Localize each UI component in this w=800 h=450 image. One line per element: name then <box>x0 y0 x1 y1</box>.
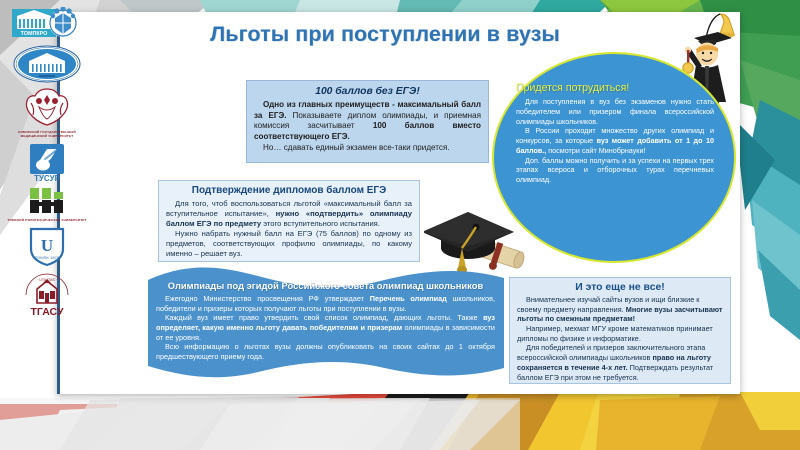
confirm-p2: Нужно набрать нужный балл на ЕГЭ (75 бал… <box>166 229 412 259</box>
tusur-logo: ТУСУР <box>10 143 84 183</box>
box-and-thats-not-all-title: И это еще не все! <box>517 282 723 294</box>
svg-text:ТГАСУ: ТГАСУ <box>30 306 63 317</box>
tspu-logo <box>10 45 84 83</box>
box-100-points: 100 баллов без ЕГЭ! Одно из главных преи… <box>246 80 489 163</box>
tompkro-logo: ТОМПКРО <box>10 7 84 41</box>
tgasu-logo: · UTILITAS · ТГАСУ <box>10 271 84 317</box>
page-title: Льготы при поступлении в вузы <box>150 22 620 47</box>
svg-text:U: U <box>41 236 53 255</box>
svg-text:ТУСУР: ТУСУР <box>34 174 61 183</box>
circle-p2c: посмотри сайт Минобрнауки! <box>546 146 645 155</box>
confirm-p1c: этого вступительного испытания. <box>261 219 380 228</box>
svg-text:TOMSK 1878: TOMSK 1878 <box>35 255 60 260</box>
box-rsosh-title: Олимпиады под эгидой Российского совета … <box>156 281 495 292</box>
ssmu-caption: СИБИРСКИЙ ГОСУДАРСТВЕННЫЙ МЕДИЦИНСКИЙ УН… <box>5 131 89 139</box>
box-diploma-confirmation: Подтверждение дипломов баллом ЕГЭ Для то… <box>158 180 420 262</box>
tpu-logo <box>10 187 84 215</box>
university-logo-strip: ТОМПКРО <box>5 4 89 378</box>
rsosh-p1b: Перечень олимпиад <box>370 294 447 303</box>
ssmu-logo <box>10 87 84 127</box>
box-100-points-body: Одно из главных преимуществ - максимальн… <box>254 100 481 153</box>
circle-p1: Для поступления в вуз без экзаменов нужн… <box>516 97 714 126</box>
box-rsosh-olympiads: Олимпиады под эгидой Российского совета … <box>148 264 504 384</box>
box-100-points-title: 100 баллов без ЕГЭ! <box>254 86 481 98</box>
circle-hard-work-body: Для поступления в вуз без экзаменов нужн… <box>516 97 714 185</box>
rsosh-p2a: Каждый вуз имеет право утвердить свой сп… <box>165 313 483 322</box>
box-rsosh-body: Ежегодно Министерство просвещения РФ утв… <box>156 294 495 362</box>
tpu-caption: ТОМСКИЙ ПОЛИТЕХНИЧЕСКИЙ УНИВЕРСИТЕТ <box>7 219 86 223</box>
circle-p3: Доп. баллы можно получить и за успехи на… <box>516 156 714 185</box>
box-100-p2: Но… сдавать единый экзамен все-таки прид… <box>254 143 481 154</box>
box-diploma-confirmation-title: Подтверждение дипломов баллом ЕГЭ <box>166 185 412 197</box>
more-p2: Например, мехмат МГУ кроме математиков п… <box>517 324 723 343</box>
tsu-logo: U TOMSK 1878 <box>10 227 84 267</box>
box-and-thats-not-all: И это еще не все! Внимательнее изучай са… <box>509 277 731 384</box>
box-and-thats-not-all-body: Внимательнее изучай сайты вузов и ищи бл… <box>517 295 723 382</box>
circle-hard-work-title: Придется потрудиться! <box>516 82 714 94</box>
svg-text:ТОМПКРО: ТОМПКРО <box>21 31 48 37</box>
slide-stage: ТОМПКРО <box>0 0 800 450</box>
box-diploma-confirmation-body: Для того, чтоб воспользоваться льготой «… <box>166 199 412 259</box>
rsosh-p1a: Ежегодно Министерство просвещения РФ утв… <box>165 294 370 303</box>
rsosh-p3: Всю информацию о льготах вузы должны опу… <box>156 342 495 361</box>
